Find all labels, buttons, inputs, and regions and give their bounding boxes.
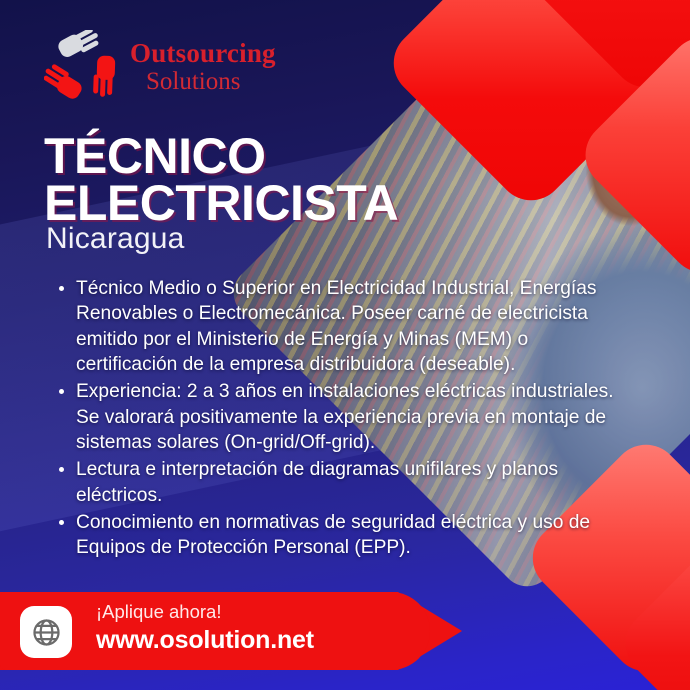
- cta-kicker: ¡Aplique ahora!: [96, 602, 314, 623]
- brand-logo: Outsourcing Solutions: [44, 30, 276, 104]
- list-item: Conocimiento en normativas de seguridad …: [56, 510, 626, 561]
- job-posting-poster: Outsourcing Solutions TÉCNICO ELECTRICIS…: [0, 0, 690, 690]
- page-title: TÉCNICO ELECTRICISTA: [44, 133, 464, 227]
- cta-text-block[interactable]: ¡Aplique ahora! www.osolution.net: [96, 602, 314, 654]
- globe-icon: [20, 606, 72, 658]
- list-item: Lectura e interpretación de diagramas un…: [56, 457, 626, 508]
- job-title-line1: TÉCNICO: [44, 133, 464, 180]
- brand-wordmark: Outsourcing Solutions: [130, 40, 276, 94]
- job-title-line2: ELECTRICISTA: [44, 180, 464, 227]
- requirements-list: Técnico Medio o Superior en Electricidad…: [56, 276, 626, 563]
- brand-name-line2: Solutions: [146, 69, 276, 94]
- job-location: Nicaragua: [46, 222, 185, 256]
- three-hands-logo-icon: [44, 30, 120, 104]
- brand-name-line1: Outsourcing: [130, 40, 276, 67]
- list-item: Técnico Medio o Superior en Electricidad…: [56, 276, 626, 377]
- list-item: Experiencia: 2 a 3 años en instalaciones…: [56, 379, 626, 455]
- cta-url[interactable]: www.osolution.net: [96, 626, 314, 654]
